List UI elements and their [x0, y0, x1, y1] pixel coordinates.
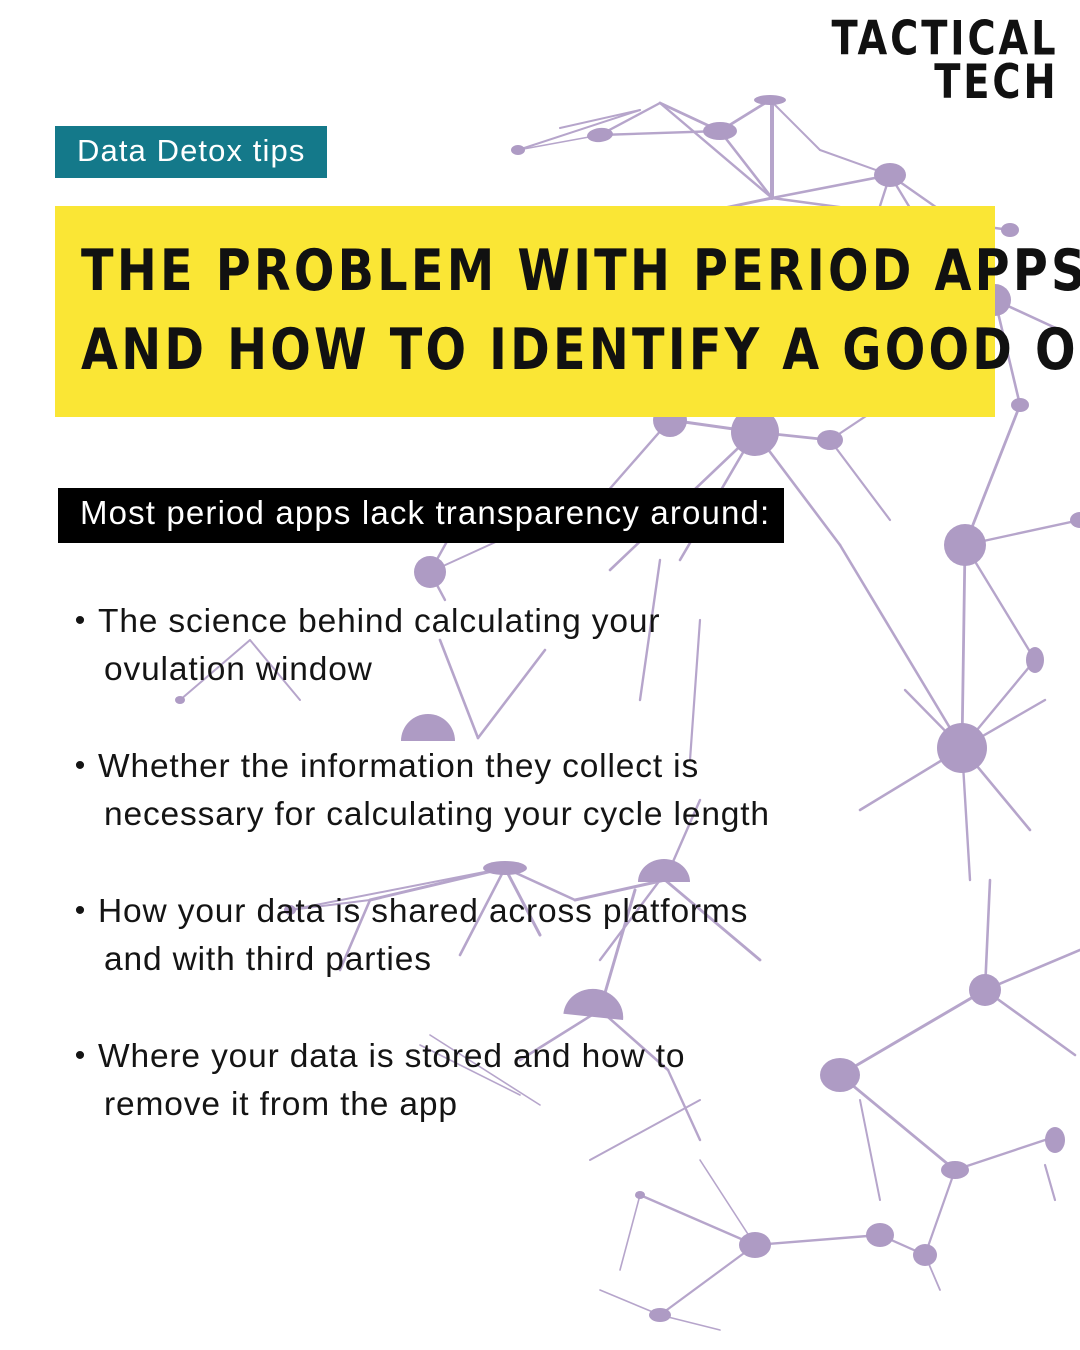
- bullet-line-1: Where your data is stored and how to: [98, 1038, 685, 1075]
- list-item: • Where your data is stored and how to r…: [62, 1033, 1002, 1128]
- bullet-text: The science behind calculating your ovul…: [98, 598, 1002, 693]
- bullet-marker-icon: •: [62, 1033, 98, 1078]
- subhead-bar: Most period apps lack transparency aroun…: [58, 488, 784, 543]
- bullet-text: Where your data is stored and how to rem…: [98, 1033, 1002, 1128]
- subhead-label: Most period apps lack transparency aroun…: [80, 494, 770, 531]
- bullet-marker-icon: •: [62, 888, 98, 933]
- bullet-marker-icon: •: [62, 743, 98, 788]
- bullet-line-1: The science behind calculating your: [98, 603, 660, 640]
- bullet-text: Whether the information they collect is …: [98, 743, 1002, 838]
- poster-canvas: TACTICAL TECH Data Detox tips THE PROBLE…: [0, 0, 1080, 1350]
- headline-line-2: AND HOW TO IDENTIFY A GOOD ONE: [55, 311, 929, 390]
- headline-line-1: THE PROBLEM WITH PERIOD APPS: [55, 232, 929, 311]
- bullet-marker-icon: •: [62, 598, 98, 643]
- bullet-line-2: ovulation window: [98, 646, 1002, 694]
- list-item: • How your data is shared across platfor…: [62, 888, 1002, 983]
- bullet-text: How your data is shared across platforms…: [98, 888, 1002, 983]
- list-item: • The science behind calculating your ov…: [62, 598, 1002, 693]
- eyebrow-label: Data Detox tips: [77, 133, 305, 168]
- headline-block: THE PROBLEM WITH PERIOD APPS AND HOW TO …: [55, 206, 995, 417]
- brand-logo-line2: TECH: [831, 61, 1058, 104]
- bullet-line-2: remove it from the app: [98, 1081, 1002, 1129]
- list-item: • Whether the information they collect i…: [62, 743, 1002, 838]
- eyebrow-badge: Data Detox tips: [55, 126, 327, 178]
- transparency-bullet-list: • The science behind calculating your ov…: [62, 598, 1002, 1179]
- bullet-line-2: and with third parties: [98, 936, 1002, 984]
- bullet-line-1: Whether the information they collect is: [98, 748, 699, 785]
- bullet-line-1: How your data is shared across platforms: [98, 893, 748, 930]
- bullet-line-2: necessary for calculating your cycle len…: [98, 791, 1002, 839]
- brand-logo: TACTICAL TECH: [831, 18, 1058, 105]
